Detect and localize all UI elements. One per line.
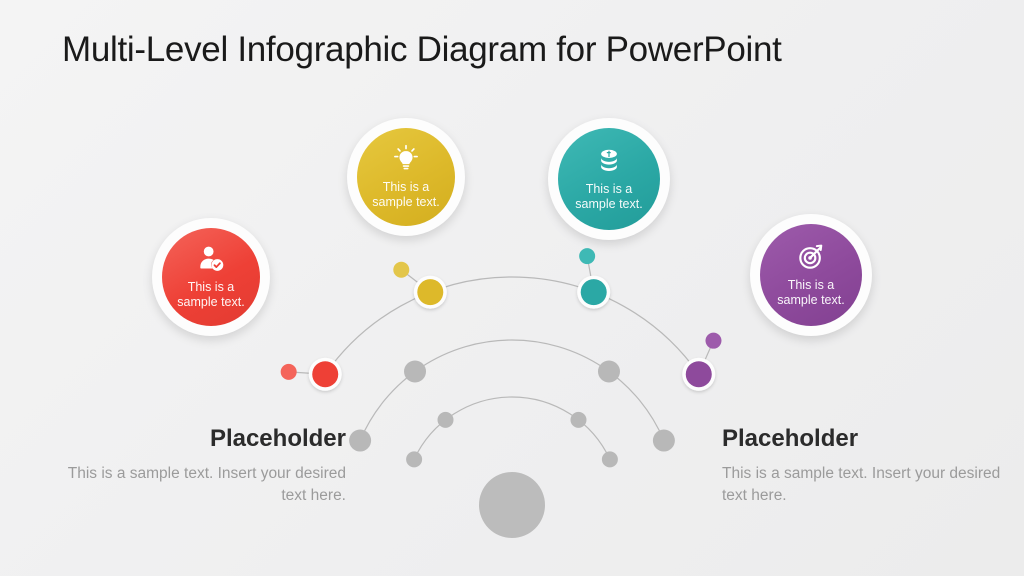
slide-canvas: Multi-Level Infographic Diagram for Powe… [0,0,1024,576]
bubble-yellow[interactable]: This is a sample text. [347,118,465,236]
node-dot-outer-arc-0[interactable] [312,361,338,387]
bubble-purple-line2: sample text. [767,293,854,308]
placeholder-right-body: This is a sample text. Insert your desir… [722,463,1010,507]
arc-path-level-2 [360,340,664,441]
satellite-dot-outer-arc-1[interactable] [393,262,409,278]
bubble-teal[interactable]: This is a sample text. [548,118,670,240]
bubble-red-line1: This is a [178,280,245,295]
satellite-connectors [289,256,714,374]
target-arrow-icon [796,242,826,272]
node-dot-inner-arc-3[interactable] [602,451,618,467]
node-dot-outer-arc-2[interactable] [581,279,607,305]
node-dot-middle-arc-2[interactable] [598,361,620,383]
arc-path-level-3 [325,277,699,374]
bubble-red-line2: sample text. [167,295,254,310]
bubble-red[interactable]: This is a sample text. [152,218,270,336]
arc-paths [325,277,699,459]
placeholder-right-title: Placeholder [722,425,1010,453]
center-hub [479,472,545,538]
arc-nodes [281,248,722,467]
node-dot-inner-arc-0[interactable] [406,451,422,467]
placeholder-left-body: This is a sample text. Insert your desir… [58,463,346,507]
bubble-purple[interactable]: This is a sample text. [750,214,872,336]
bubble-teal-line1: This is a [576,182,643,197]
bubble-yellow-body: This is a sample text. [357,128,455,226]
bubble-red-body: This is a sample text. [162,228,260,326]
placeholder-left: Placeholder This is a sample text. Inser… [58,425,346,507]
placeholder-right: Placeholder This is a sample text. Inser… [722,425,1010,507]
bubble-teal-line2: sample text. [565,197,652,212]
satellite-dot-outer-arc-2[interactable] [579,248,595,264]
arc-path-level-1 [414,397,610,459]
node-dot-middle-arc-1[interactable] [404,361,426,383]
bubble-yellow-line1: This is a [373,180,440,195]
lightbulb-icon [391,144,421,174]
node-dot-outer-arc-1[interactable] [417,279,443,305]
bubble-purple-body: This is a sample text. [760,224,862,326]
user-check-icon [196,244,226,274]
node-dot-middle-arc-3[interactable] [653,430,675,452]
bubble-teal-body: This is a sample text. [558,128,660,230]
node-dot-middle-arc-0[interactable] [349,430,371,452]
node-dot-inner-arc-1[interactable] [438,412,454,428]
satellite-dot-outer-arc-0[interactable] [281,364,297,380]
node-dot-outer-arc-3[interactable] [686,361,712,387]
bubble-yellow-line2: sample text. [362,195,449,210]
bubble-purple-line1: This is a [778,278,845,293]
node-dot-inner-arc-2[interactable] [570,412,586,428]
coins-stack-icon [594,146,624,176]
satellite-dot-outer-arc-3[interactable] [705,333,721,349]
placeholder-left-title: Placeholder [58,425,346,453]
